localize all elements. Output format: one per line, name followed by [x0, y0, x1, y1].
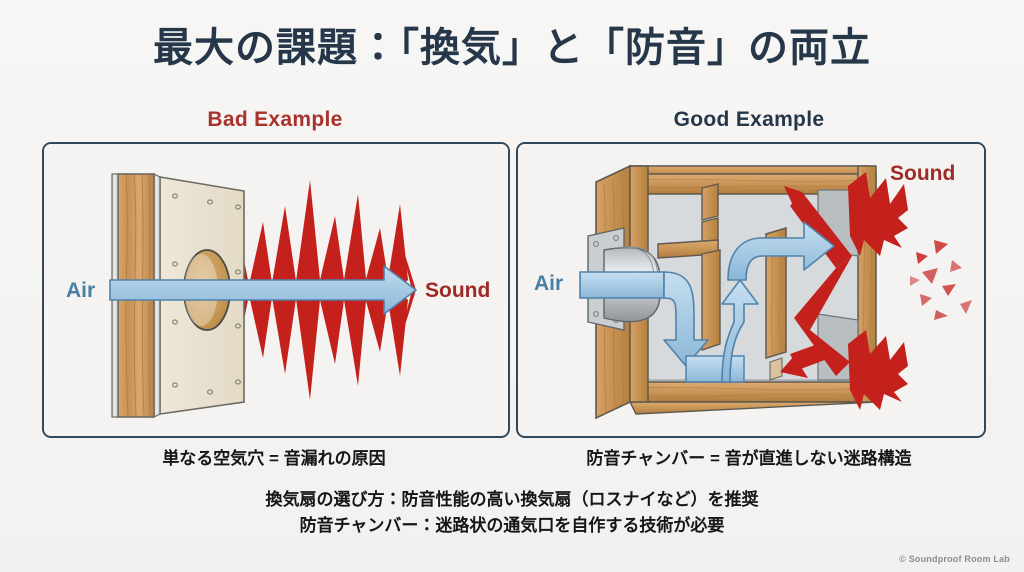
label-sound-good: Sound — [890, 162, 955, 185]
panel-bad-example: Air Sound — [42, 142, 510, 438]
caption-bad-example: 単なる空気穴 = 音漏れの原因 — [42, 444, 506, 469]
label-air-good: Air — [534, 272, 563, 295]
page-title: 最大の課題：「換気」と「防音」の両立 — [0, 26, 1024, 70]
label-air-bad: Air — [66, 279, 95, 302]
caption-good-example: 防音チャンバー = 音が直進しない迷路構造 — [516, 444, 982, 469]
slide-root: 最大の課題：「換気」と「防音」の両立 Bad Example Good Exam… — [0, 0, 1024, 572]
watermark: © Soundproof Room Lab — [899, 554, 1010, 564]
note-line-2: 防音チャンバー：迷路状の通気口を自作する技術が必要 — [0, 513, 1024, 539]
diagram-bad-example: Air Sound — [44, 144, 508, 436]
panel-good-example: Air Sound — [516, 142, 986, 438]
footer-notes: 換気扇の選び方：防音性能の高い換気扇（ロスナイなど）を推奨 防音チャンバー：迷路… — [0, 487, 1024, 540]
diagram-good-example: Air Sound — [518, 144, 984, 436]
heading-good-example: Good Example — [516, 108, 982, 132]
heading-bad-example: Bad Example — [42, 108, 508, 132]
note-line-1: 換気扇の選び方：防音性能の高い換気扇（ロスナイなど）を推奨 — [0, 487, 1024, 513]
label-sound-bad: Sound — [425, 279, 490, 302]
